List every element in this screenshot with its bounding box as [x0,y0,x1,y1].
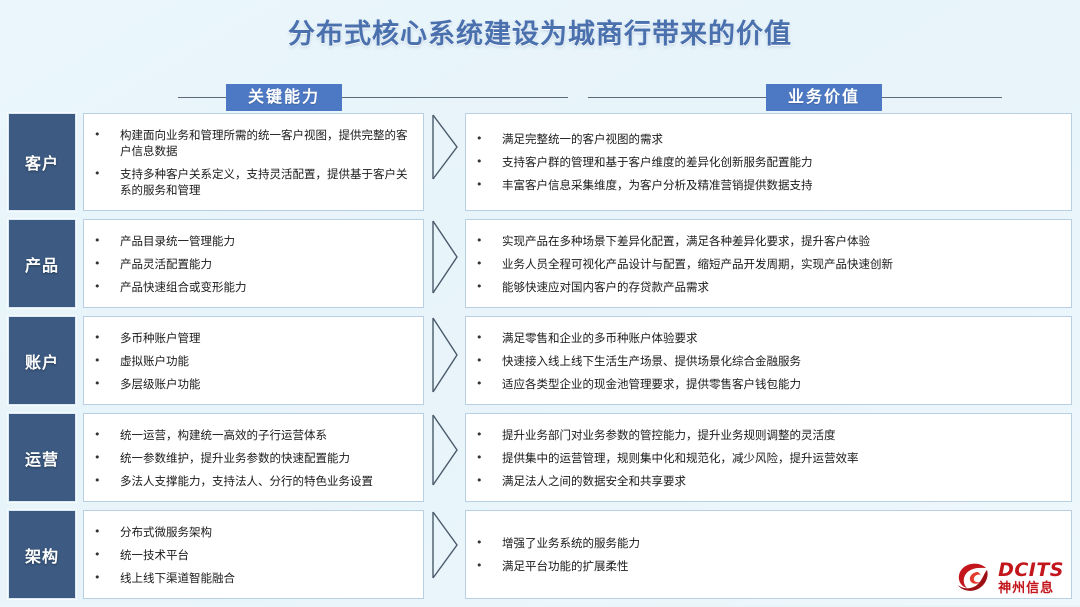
list-item-text: 构建面向业务和管理所需的统一客户视图，提供完整的客户信息数据 [120,127,409,159]
bullet-icon: • [476,535,502,551]
bullet-icon: • [94,547,120,563]
row-label-text: 架构 [25,543,59,567]
bullet-icon: • [94,450,120,466]
list-item-text: 能够快速应对国内客户的存贷款产品需求 [502,279,1057,295]
bullet-icon: • [476,279,502,295]
business-value-panel: • 满足零售和企业的多币种账户体验要求 • 快速接入线上线下生活生产场景、提供场… [465,316,1072,405]
bullet-icon: • [94,473,120,489]
bullet-icon: • [476,558,502,574]
list-item: • 分布式微服务架构 [94,520,409,543]
list-item: • 满足完整统一的客户视图的需求 [476,128,1057,151]
bullet-icon: • [476,450,502,466]
business-value-panel: • 满足完整统一的客户视图的需求 • 支持客户群的管理和基于客户维度的差异化创新… [465,113,1072,211]
bullet-icon: • [476,353,502,369]
bullet-icon: • [476,131,502,147]
header-rule-right [882,97,1002,98]
row-label-architecture: 架构 [8,510,76,599]
arrow-icon [424,219,465,308]
bullet-icon: • [476,427,502,443]
list-item: • 统一运营，构建统一高效的子行运营体系 [94,423,409,446]
list-item-text: 多法人支撑能力，支持法人、分行的特色业务设置 [120,473,409,489]
table-row: 运营 • 统一运营，构建统一高效的子行运营体系 • 统一参数维护，提升业务参数的… [8,413,1072,502]
list-item-text: 支持多种客户关系定义，支持灵活配置，提供基于客户关系的服务和管理 [120,166,409,198]
list-item-text: 实现产品在多种场景下差异化配置，满足各种差异化要求，提升客户体验 [502,233,1057,249]
arrow-icon [424,510,465,599]
company-logo: DCITS 神州信息 [956,561,1064,595]
bullet-icon: • [94,524,120,540]
table-row: 客户 • 构建面向业务和管理所需的统一客户视图，提供完整的客户信息数据 • 支持… [8,113,1072,211]
bullet-icon: • [94,279,120,295]
bullet-icon: • [476,233,502,249]
list-item: • 支持多种客户关系定义，支持灵活配置，提供基于客户关系的服务和管理 [94,162,409,201]
bullet-icon: • [476,473,502,489]
page-title: 分布式核心系统建设为城商行带来的价值 [0,12,1080,51]
list-item: • 能够快速应对国内客户的存贷款产品需求 [476,275,1057,298]
list-item: • 提供集中的运营管理，规则集中化和规范化，减少风险，提升运营效率 [476,446,1057,469]
list-item: • 统一技术平台 [94,543,409,566]
bullet-icon: • [476,330,502,346]
column-header-capabilities: 关键能力 [178,83,568,111]
capabilities-panel: • 产品目录统一管理能力 • 产品灵活配置能力 • 产品快速组合或变形能力 [83,219,424,308]
list-item: • 多法人支撑能力，支持法人、分行的特色业务设置 [94,469,409,492]
list-item-text: 满足零售和企业的多币种账户体验要求 [502,330,1057,346]
list-item: • 适应各类型企业的现金池管理要求，提供零售客户钱包能力 [476,372,1057,395]
list-item-text: 丰富客户信息采集维度，为客户分析及精准营销提供数据支持 [502,177,1057,193]
row-label-text: 产品 [25,252,59,276]
list-item-text: 分布式微服务架构 [120,524,409,540]
list-item: • 增强了业务系统的服务能力 [476,532,1057,555]
list-item: • 线上线下渠道智能融合 [94,566,409,589]
dcits-swirl-icon [956,561,992,595]
row-label-account: 账户 [8,316,76,405]
list-item-text: 产品灵活配置能力 [120,256,409,272]
row-label-text: 客户 [25,150,59,174]
row-label-text: 账户 [25,349,59,373]
list-item: • 虚拟账户功能 [94,349,409,372]
list-item: • 满足法人之间的数据安全和共享要求 [476,469,1057,492]
list-item-text: 线上线下渠道智能融合 [120,570,409,586]
table-row: 账户 • 多币种账户管理 • 虚拟账户功能 • 多层级账户功能 • [8,316,1072,405]
bullet-icon: • [94,256,120,272]
list-item: • 快速接入线上线下生活生产场景、提供场景化综合金融服务 [476,349,1057,372]
row-label-customer: 客户 [8,113,76,211]
list-item-text: 提供集中的运营管理，规则集中化和规范化，减少风险，提升运营效率 [502,450,1057,466]
value-matrix: 客户 • 构建面向业务和管理所需的统一客户视图，提供完整的客户信息数据 • 支持… [8,113,1072,607]
list-item: • 提升业务部门对业务参数的管控能力，提升业务规则调整的灵活度 [476,423,1057,446]
header-rule-right [342,97,568,98]
header-badge-capabilities: 关键能力 [226,84,342,111]
capabilities-panel: • 统一运营，构建统一高效的子行运营体系 • 统一参数维护，提升业务参数的快速配… [83,413,424,502]
column-headers: 关键能力 业务价值 [0,83,1080,111]
bullet-icon: • [94,233,120,249]
bullet-icon: • [94,330,120,346]
list-item-text: 多层级账户功能 [120,376,409,392]
list-item: • 产品目录统一管理能力 [94,229,409,252]
table-row: 架构 • 分布式微服务架构 • 统一技术平台 • 线上线下渠道智能融合 [8,510,1072,599]
list-item: • 构建面向业务和管理所需的统一客户视图，提供完整的客户信息数据 [94,123,409,162]
bullet-icon: • [476,154,502,170]
list-item: • 产品灵活配置能力 [94,252,409,275]
bullet-icon: • [94,427,120,443]
list-item: • 丰富客户信息采集维度，为客户分析及精准营销提供数据支持 [476,174,1057,197]
list-item-text: 提升业务部门对业务参数的管控能力，提升业务规则调整的灵活度 [502,427,1057,443]
header-badge-business-value: 业务价值 [766,84,882,111]
logo-name-cn: 神州信息 [998,582,1064,595]
logo-name-en: DCITS [998,561,1064,580]
bullet-icon: • [476,376,502,392]
list-item-text: 虚拟账户功能 [120,353,409,369]
list-item: • 统一参数维护，提升业务参数的快速配置能力 [94,446,409,469]
business-value-panel: • 提升业务部门对业务参数的管控能力，提升业务规则调整的灵活度 • 提供集中的运… [465,413,1072,502]
row-label-product: 产品 [8,219,76,308]
list-item-text: 支持客户群的管理和基于客户维度的差异化创新服务配置能力 [502,154,1057,170]
list-item-text: 快速接入线上线下生活生产场景、提供场景化综合金融服务 [502,353,1057,369]
header-rule-left [178,97,226,98]
list-item-text: 统一技术平台 [120,547,409,563]
list-item-text: 产品快速组合或变形能力 [120,279,409,295]
list-item: • 满足零售和企业的多币种账户体验要求 [476,326,1057,349]
list-item: • 多层级账户功能 [94,372,409,395]
bullet-icon: • [94,376,120,392]
list-item-text: 适应各类型企业的现金池管理要求，提供零售客户钱包能力 [502,376,1057,392]
row-label-text: 运营 [25,446,59,470]
list-item: • 业务人员全程可视化产品设计与配置，缩短产品开发周期，实现产品快速创新 [476,252,1057,275]
list-item-text: 业务人员全程可视化产品设计与配置，缩短产品开发周期，实现产品快速创新 [502,256,1057,272]
list-item-text: 产品目录统一管理能力 [120,233,409,249]
column-header-business-value: 业务价值 [588,83,1066,111]
arrow-icon [424,113,465,211]
row-label-operations: 运营 [8,413,76,502]
capabilities-panel: • 多币种账户管理 • 虚拟账户功能 • 多层级账户功能 [83,316,424,405]
list-item-text: 增强了业务系统的服务能力 [502,535,1057,551]
bullet-icon: • [476,256,502,272]
bullet-icon: • [94,570,120,586]
list-item: • 支持客户群的管理和基于客户维度的差异化创新服务配置能力 [476,151,1057,174]
list-item: • 多币种账户管理 [94,326,409,349]
bullet-icon: • [476,177,502,193]
capabilities-panel: • 分布式微服务架构 • 统一技术平台 • 线上线下渠道智能融合 [83,510,424,599]
list-item-text: 统一参数维护，提升业务参数的快速配置能力 [120,450,409,466]
bullet-icon: • [94,166,120,182]
list-item-text: 满足法人之间的数据安全和共享要求 [502,473,1057,489]
business-value-panel: • 实现产品在多种场景下差异化配置，满足各种差异化要求，提升客户体验 • 业务人… [465,219,1072,308]
capabilities-panel: • 构建面向业务和管理所需的统一客户视图，提供完整的客户信息数据 • 支持多种客… [83,113,424,211]
arrow-icon [424,316,465,405]
list-item: • 产品快速组合或变形能力 [94,275,409,298]
arrow-icon [424,413,465,502]
header-rule-left [588,97,766,98]
bullet-icon: • [94,127,120,143]
logo-wordmark: DCITS 神州信息 [998,561,1064,595]
list-item: • 实现产品在多种场景下差异化配置，满足各种差异化要求，提升客户体验 [476,229,1057,252]
list-item-text: 满足完整统一的客户视图的需求 [502,131,1057,147]
list-item-text: 多币种账户管理 [120,330,409,346]
table-row: 产品 • 产品目录统一管理能力 • 产品灵活配置能力 • 产品快速组合或变形能力 [8,219,1072,308]
bullet-icon: • [94,353,120,369]
list-item-text: 统一运营，构建统一高效的子行运营体系 [120,427,409,443]
